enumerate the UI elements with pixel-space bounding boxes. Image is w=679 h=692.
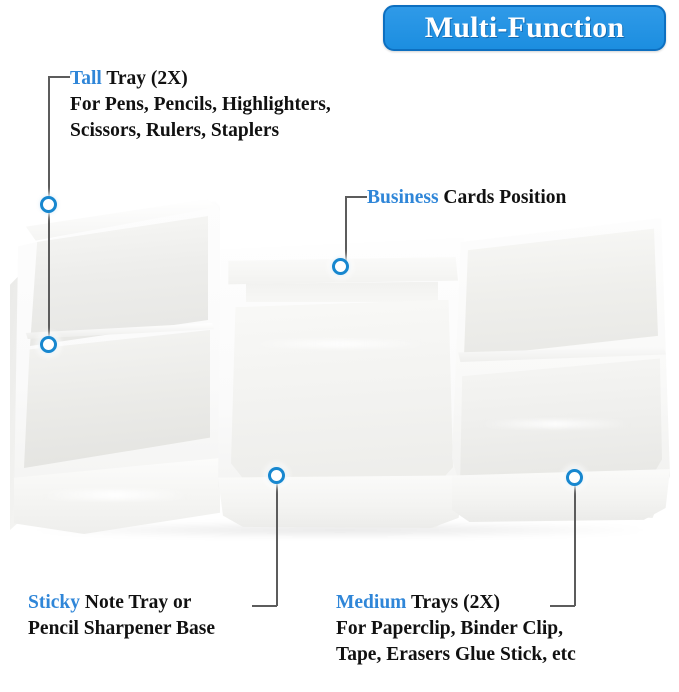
callout-dot-medium-trays[interactable] — [566, 469, 583, 486]
annotation-tall-tray-line-1: For Pens, Pencils, Highlighters, — [70, 92, 331, 118]
annotation-business-cards: Business Cards Position — [367, 185, 566, 211]
callout-dot-tall-tray-back[interactable] — [40, 196, 57, 213]
annotation-highlight: Medium — [336, 592, 406, 613]
annotation-medium-trays-line-1: For Paperclip, Binder Clip, — [336, 616, 576, 642]
center-tray-front-face — [218, 472, 466, 528]
leader-line-tall-vertical — [48, 76, 50, 201]
annotation-tall-tray-title: Tall Tray (2X) — [70, 66, 331, 92]
badge-label: Multi-Function — [425, 13, 624, 43]
leader-line-business-horizontal — [345, 196, 367, 198]
annotation-tall-tray: Tall Tray (2X) For Pens, Pencils, Highli… — [70, 66, 331, 144]
leader-line-business-vertical — [345, 196, 347, 262]
annotation-medium-trays-line-2: Tape, Erasers Glue Stick, etc — [336, 642, 576, 668]
callout-dot-tall-tray-front[interactable] — [40, 336, 57, 353]
annotation-sticky-note-line-1: Pencil Sharpener Base — [28, 616, 215, 642]
leader-line-tall-vertical-2 — [48, 208, 50, 342]
center-tray-cavity — [231, 296, 453, 482]
annotation-sticky-note-title: Sticky Note Tray or — [28, 590, 215, 616]
leader-line-sticky-vertical — [276, 484, 278, 606]
annotation-highlight: Tall — [70, 68, 102, 89]
annotation-rest: Note Tray or — [80, 592, 191, 613]
product-desk-organizer — [0, 190, 679, 550]
callout-dot-sticky-note[interactable] — [268, 467, 285, 484]
annotation-sticky-note: Sticky Note Tray or Pencil Sharpener Bas… — [28, 590, 215, 642]
annotation-medium-trays-title: Medium Trays (2X) — [336, 590, 576, 616]
leader-line-tall-horizontal — [48, 76, 70, 78]
multi-function-badge: Multi-Function — [383, 5, 666, 51]
medium-tray-front-compartment — [456, 356, 662, 482]
annotation-rest: Tray (2X) — [102, 68, 188, 89]
annotation-rest: Trays (2X) — [406, 592, 500, 613]
annotation-highlight: Business — [367, 187, 439, 208]
leader-line-sticky-horizontal — [252, 605, 277, 607]
infographic-canvas: Multi-Function Tall Tray (2X) For Pens, … — [0, 0, 679, 692]
annotation-medium-trays: Medium Trays (2X) For Paperclip, Binder … — [336, 590, 576, 668]
annotation-business-cards-title: Business Cards Position — [367, 185, 566, 211]
leader-line-medium-vertical — [574, 486, 576, 606]
callout-dot-business-cards[interactable] — [332, 258, 349, 275]
medium-trays-front-face — [452, 468, 670, 522]
annotation-tall-tray-line-2: Scissors, Rulers, Staplers — [70, 118, 331, 144]
annotation-rest: Cards Position — [439, 187, 567, 208]
annotation-highlight: Sticky — [28, 592, 80, 613]
